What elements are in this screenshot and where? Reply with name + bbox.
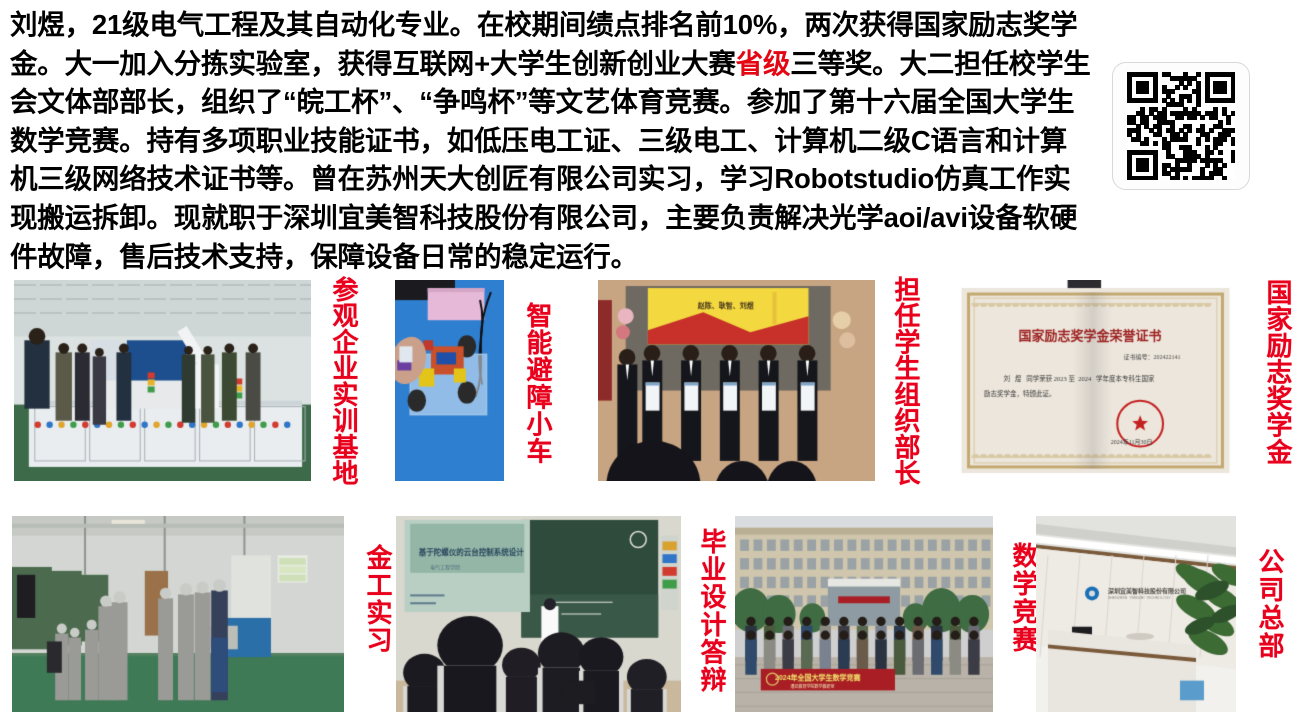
enterprise-training-base-photo-canvas: [14, 280, 311, 481]
photo-caption: 公司总部: [1242, 544, 1284, 664]
photo-caption: 担任学生组织部长: [878, 268, 920, 494]
metalworking-internship-photo-canvas: [12, 516, 344, 712]
qr-code-card: [1112, 62, 1250, 190]
photo-caption: 参观企业实训基地: [316, 268, 358, 494]
national-scholarship-certificate-photo: [956, 280, 1235, 481]
photo-caption: 金工实习: [350, 540, 392, 658]
bio-highlight-text: 省级: [736, 48, 791, 79]
enterprise-training-base-photo: [14, 280, 311, 481]
photo-caption: 智能避障小车: [510, 296, 552, 471]
qr-code-wrapper: [1112, 62, 1250, 190]
photo-caption: 国家励志奖学金: [1250, 272, 1292, 472]
photo-caption: 毕业设计答辩: [684, 522, 726, 700]
qr-code-icon: [1127, 72, 1235, 180]
company-headquarters-photo: [1036, 516, 1236, 712]
national-scholarship-certificate-photo-canvas: [956, 280, 1235, 481]
student-organization-award-photo: [598, 280, 875, 481]
photo-caption: 数学竞赛: [996, 538, 1038, 658]
math-competition-photo-canvas: [735, 516, 993, 712]
metalworking-internship-photo: [12, 516, 344, 712]
math-competition-photo: [735, 516, 993, 712]
photo-row-1: 参观企业实训基地智能避障小车担任学生组织部长国家励志奖学金: [0, 268, 1316, 494]
obstacle-avoidance-car-photo: [395, 280, 504, 481]
thesis-defense-photo-canvas: [396, 516, 681, 712]
photo-row-2: 金工实习毕业设计答辩数学竞赛公司总部: [0, 506, 1316, 722]
company-headquarters-photo-canvas: [1036, 516, 1236, 712]
student-organization-award-photo-canvas: [598, 280, 875, 481]
thesis-defense-photo: [396, 516, 681, 712]
bio-paragraph: 刘煜，21级电气工程及其自动化专业。在校期间绩点排名前10%，两次获得国家励志奖…: [10, 6, 1092, 276]
obstacle-avoidance-car-photo-canvas: [395, 280, 504, 481]
bio-text-run-2: 三等奖。大二担任校学生会文体部部长，组织了“皖工杯”、“争鸣杯”等文艺体育竞赛。…: [10, 48, 1091, 272]
